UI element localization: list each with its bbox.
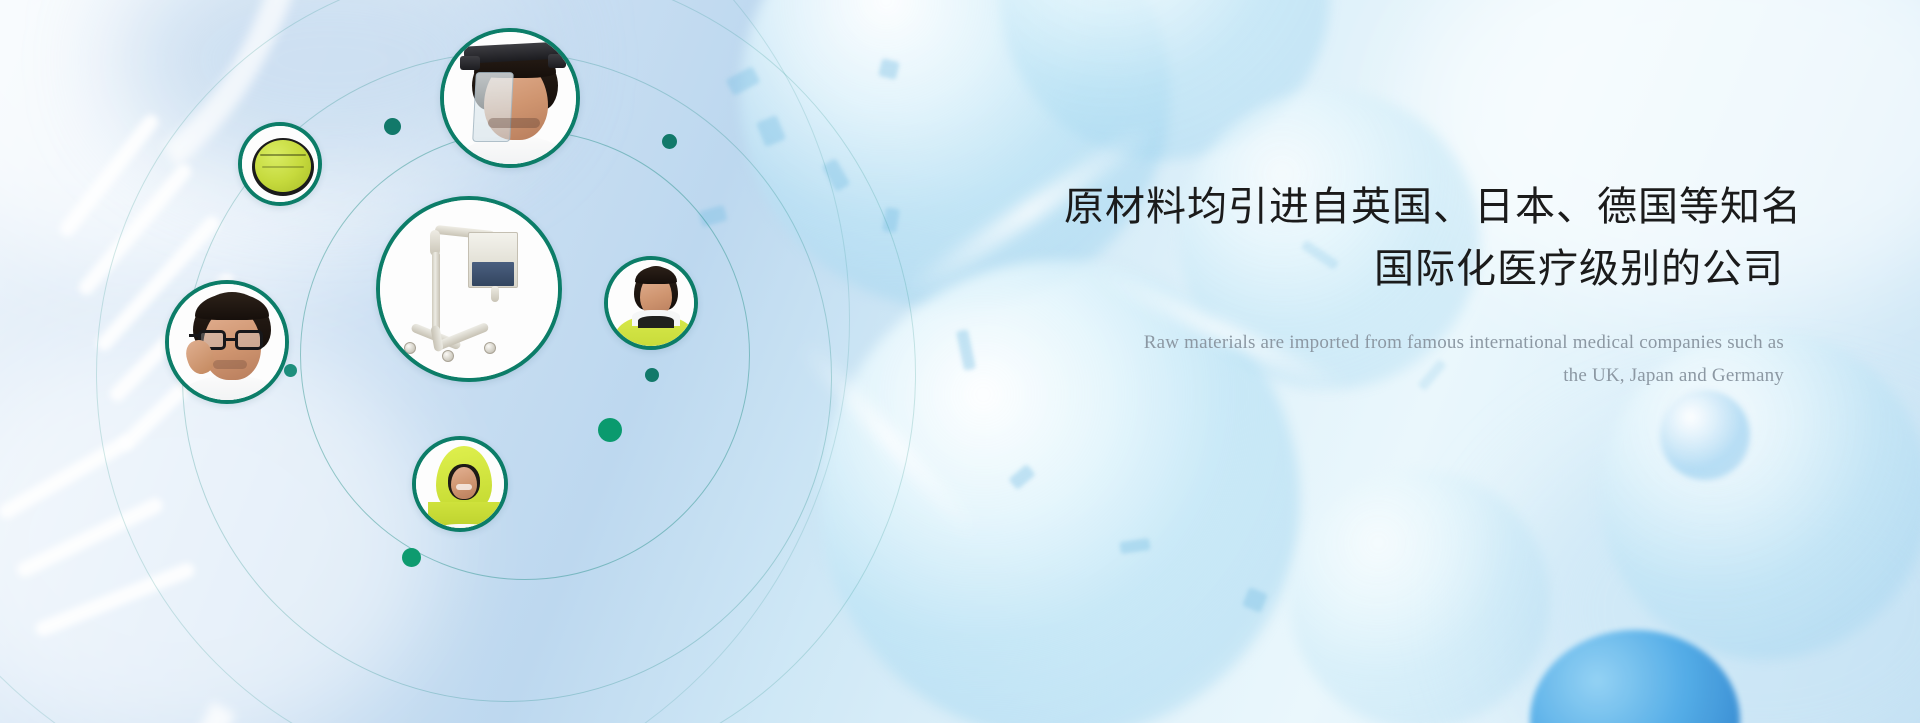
cloud-wash [1500,420,1920,723]
crystal-glint [878,58,900,80]
crystal-glint [1119,538,1150,554]
bubble-mobile-shield[interactable] [376,196,562,382]
orbit-node-dot [662,134,677,149]
subtitle: Raw materials are imported from famous i… [1064,326,1784,393]
headline-line-1: 原材料均引进自英国、日本、德国等知名 [1064,185,1802,229]
headline: 原材料均引进自英国、日本、德国等知名 国际化医疗级别的公司 [1064,176,1784,300]
crystal-glint [956,329,976,371]
orbit-node-dot [598,418,622,442]
blue-accent-sphere [1530,630,1740,723]
bubble-head-shield[interactable] [440,28,580,168]
molecule-sphere [1290,470,1550,723]
product-photo-thyroid-collar [242,126,318,202]
molecule-sphere [1000,0,1330,160]
subtitle-line-1: Raw materials are imported from famous i… [1144,332,1784,353]
orbit-node-dot [645,368,659,382]
bubble-leaded-glasses[interactable] [165,280,289,404]
headline-line-2: 国际化医疗级别的公司 [1064,238,1784,300]
bubble-neck-apron[interactable] [604,256,698,350]
product-photo-radiation-hood [416,440,504,528]
crystal-glint [1008,464,1035,490]
blue-accent-sphere-small [1660,390,1750,480]
banner-text-block: 原材料均引进自英国、日本、德国等知名 国际化医疗级别的公司 Raw materi… [1064,176,1784,393]
crystal-glint [1242,587,1268,613]
product-photo-head-shield [444,32,576,164]
product-photo-mobile-shield [380,200,558,378]
bubble-radiation-hood[interactable] [412,436,508,532]
subtitle-line-2: the UK, Japan and Germany [1064,359,1784,392]
orbit-node-dot [402,548,421,567]
hero-banner: 原材料均引进自英国、日本、德国等知名 国际化医疗级别的公司 Raw materi… [0,0,1920,723]
product-photo-neck-apron [608,260,694,346]
orbit-node-dot [284,364,297,377]
product-photo-leaded-glasses [169,284,285,400]
bubble-thyroid-collar[interactable] [238,122,322,206]
orbit-node-dot [384,118,401,135]
